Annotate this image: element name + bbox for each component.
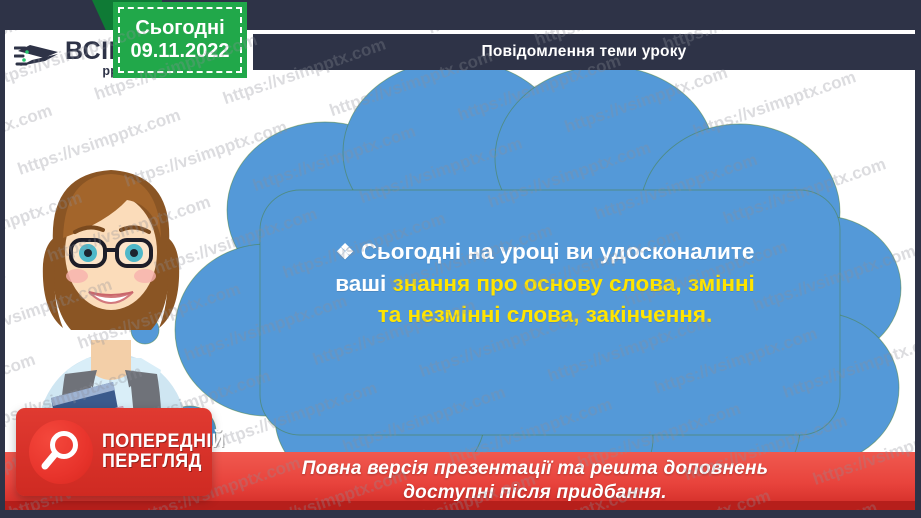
purchase-banner-text: Повна версія презентації та решта доповн… <box>152 457 768 505</box>
bullet-icon: ❖ <box>336 241 355 264</box>
date-badge-label: Сьогодні <box>135 17 224 40</box>
purchase-banner-line-1: Повна версія презентації та решта доповн… <box>302 457 768 481</box>
lesson-objective-text: ❖ Сьогодні на уроці ви удосконалите ваші… <box>260 236 830 330</box>
objective-line-3-highlight: та незмінні слова, закінчення. <box>260 299 830 330</box>
objective-line-1: ❖ Сьогодні на уроці ви удосконалите <box>260 236 830 268</box>
objective-line-2: ваші знання про основу слова, змінні <box>260 268 830 299</box>
preview-badge-text: ПОПЕРЕДНІЙ ПЕРЕГЛЯД <box>102 432 236 472</box>
graduation-cap-icon <box>14 40 60 76</box>
date-badge: Сьогодні 09.11.2022 <box>113 2 247 78</box>
banner-bottom-strip <box>5 501 915 510</box>
presentation-slide: ❖ Сьогодні на уроці ви удосконалите ваші… <box>0 0 921 518</box>
slide-title-bar: Повідомлення теми уроку <box>253 34 915 70</box>
objective-line-2-plain: ваші <box>335 271 392 296</box>
objective-line-2-highlight: знання про основу слова, змінні <box>393 271 755 296</box>
preview-badge[interactable]: ПОПЕРЕДНІЙ ПЕРЕГЛЯД <box>16 408 212 496</box>
magnifier-icon <box>29 420 93 484</box>
preview-badge-line-2: ПЕРЕГЛЯД <box>102 452 225 472</box>
date-badge-date: 09.11.2022 <box>131 40 230 63</box>
slide-title: Повідомлення теми уроку <box>482 43 687 61</box>
objective-line-1-text: Сьогодні на уроці ви удосконалите <box>361 239 755 264</box>
